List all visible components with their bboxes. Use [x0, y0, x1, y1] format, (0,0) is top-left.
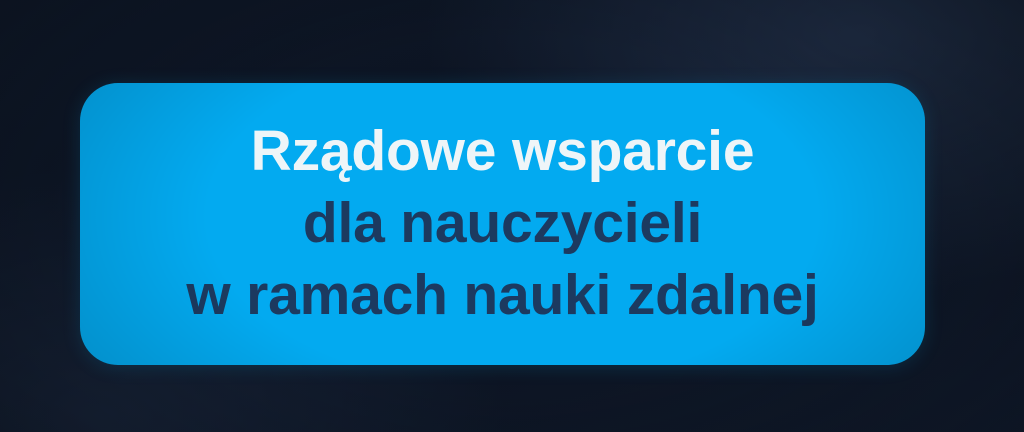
slide-canvas: Rządowe wsparcie dla nauczycieli w ramac…: [0, 0, 1024, 432]
headline-line-3: w ramach nauki zdalnej: [80, 259, 925, 331]
headline-line-1: Rządowe wsparcie: [80, 115, 925, 187]
headline-banner-card: Rządowe wsparcie dla nauczycieli w ramac…: [80, 83, 925, 365]
headline-line-2: dla nauczycieli: [80, 187, 925, 259]
headline-block: Rządowe wsparcie dla nauczycieli w ramac…: [80, 115, 925, 331]
